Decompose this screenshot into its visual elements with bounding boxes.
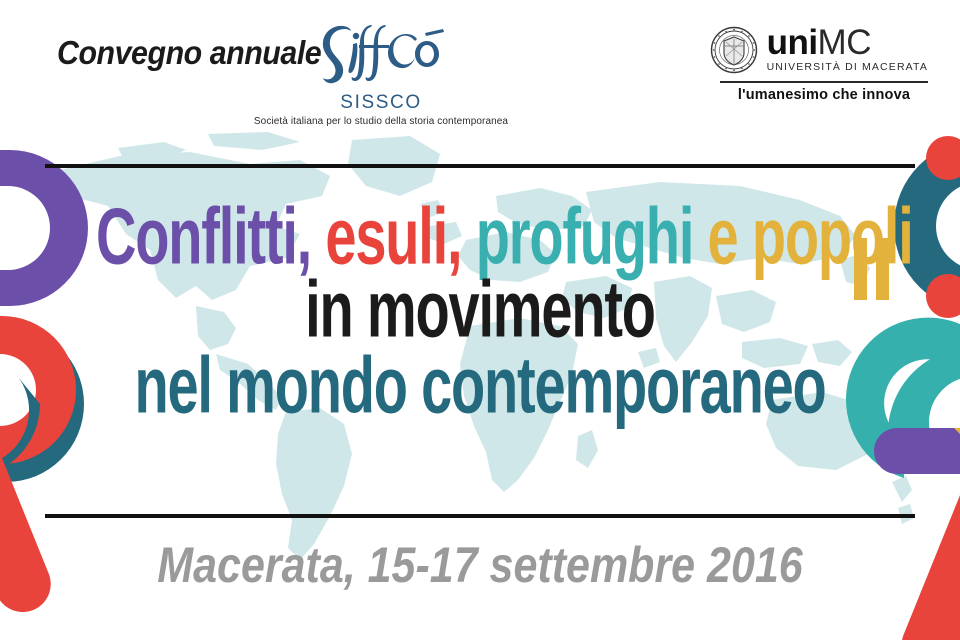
title-word-popoli: e popoli (708, 191, 913, 280)
dateline: Macerata, 15-17 settembre 2016 (67, 536, 893, 594)
unimc-subtitle: UNIVERSITÀ DI MACERATA (767, 61, 928, 73)
university-seal-icon (710, 26, 758, 74)
unimc-word-mc: MC (818, 23, 871, 62)
title-line-3: nel mondo contemporaneo (96, 345, 864, 425)
unimc-word-uni: uni (767, 23, 818, 62)
title-word-conflitti: Conflitti, (96, 191, 311, 280)
unimc-wordmark: uniMC (767, 27, 928, 59)
sissco-tagline: Società italiana per lo studio della sto… (252, 116, 510, 127)
poster-title: Conflitti, esuli, profughi e popoli in m… (0, 196, 960, 415)
unimc-divider (720, 81, 928, 83)
unimc-tagline: l'umanesimo che innova (720, 87, 928, 103)
unimc-logo: uniMC UNIVERSITÀ DI MACERATA l'umanesimo… (720, 24, 928, 103)
conference-poster: Convegno annuale (0, 0, 960, 640)
rule-bottom (45, 514, 915, 518)
yellow-wedge (954, 428, 960, 500)
sissco-script-logo-icon (252, 22, 510, 90)
poster-header: Convegno annuale (0, 0, 960, 140)
purple-bar (874, 428, 960, 474)
sissco-logo: SISSCO Società italiana per lo studio de… (252, 22, 510, 127)
sissco-name: SISSCO (252, 92, 510, 114)
red-diagonal-bar (893, 438, 960, 640)
rule-top (45, 164, 915, 168)
title-line-2: in movimento (96, 269, 864, 349)
